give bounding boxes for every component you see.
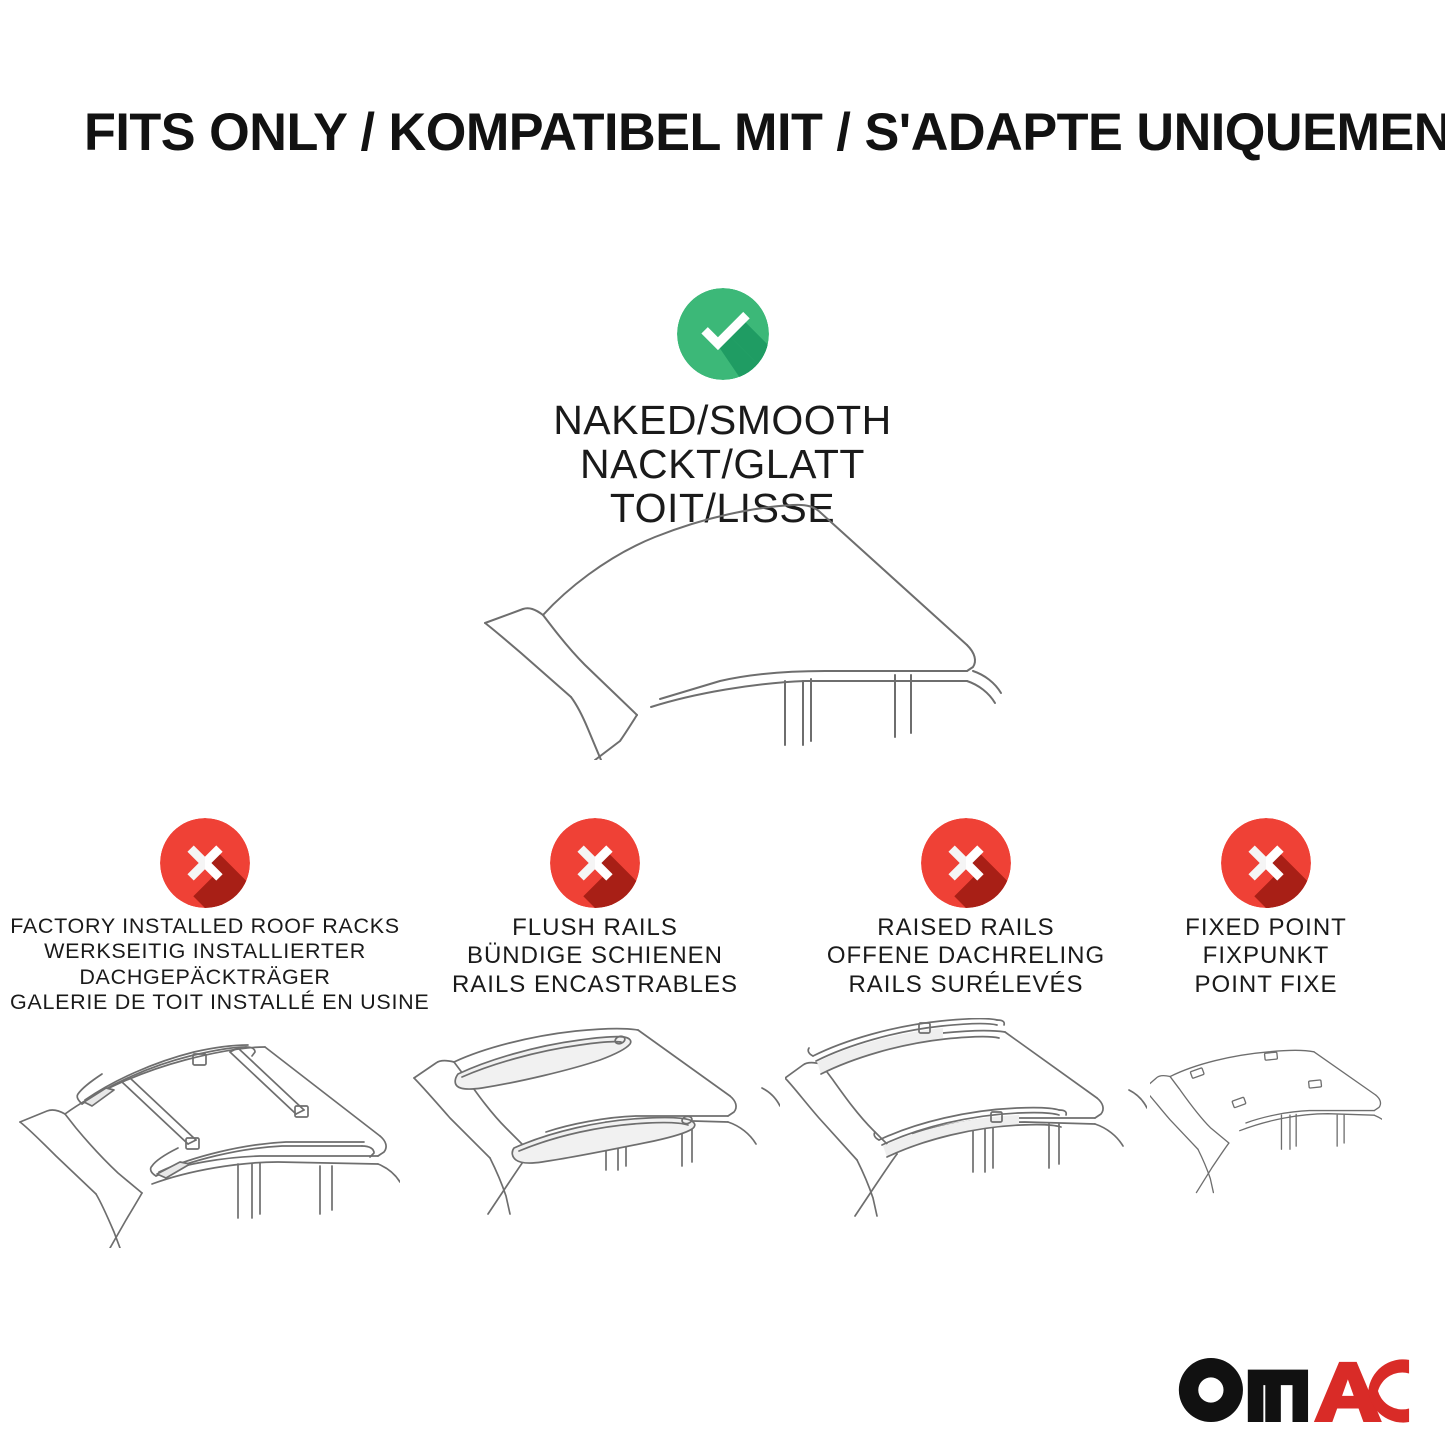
cross-circle-icon (1221, 818, 1311, 908)
car-roof-flush-rails-illustration (410, 1018, 780, 1248)
label-line-3: RAILS SURÉLEVÉS (785, 971, 1147, 999)
car-roof-raised-rails-illustration (785, 1018, 1147, 1248)
label-line-3: DACHGEPÄCKTRÄGER (10, 965, 400, 990)
label-line-2: BÜNDIGE SCHIENEN (410, 942, 780, 970)
label-line-2: FIXPUNKT (1150, 942, 1382, 970)
poster-root: FITS ONLY / KOMPATIBEL MIT / S'ADAPTE UN… (0, 0, 1445, 1445)
incompatible-item-factory-rack: FACTORY INSTALLED ROOF RACKS WERKSEITIG … (10, 818, 400, 1015)
cross-circle-icon (921, 818, 1011, 908)
badge-wrap (785, 818, 1147, 914)
incompatible-item-flush-rails: FLUSH RAILS BÜNDIGE SCHIENEN RAILS ENCAS… (410, 818, 780, 999)
incompatible-section: FACTORY INSTALLED ROOF RACKS WERKSEITIG … (0, 818, 1445, 1248)
omac-logo (1175, 1356, 1410, 1424)
incompatible-caption: FIXED POINT FIXPUNKT POINT FIXE (1150, 914, 1382, 999)
check-circle-icon (677, 288, 769, 380)
car-roof-fixed-point-illustration (1150, 1018, 1382, 1248)
label-line-1: FLUSH RAILS (410, 914, 780, 942)
badge-wrap (10, 818, 400, 914)
page-title: FITS ONLY / KOMPATIBEL MIT / S'ADAPTE UN… (84, 106, 1355, 159)
label-line-3: POINT FIXE (1150, 971, 1382, 999)
label-line-3: RAILS ENCASTRABLES (410, 971, 780, 999)
cross-circle-icon (550, 818, 640, 908)
incompatible-caption: FLUSH RAILS BÜNDIGE SCHIENEN RAILS ENCAS… (410, 914, 780, 999)
label-line-1: RAISED RAILS (785, 914, 1147, 942)
label-line-1: FACTORY INSTALLED ROOF RACKS (10, 914, 400, 939)
compatible-label-de: NACKT/GLATT (0, 443, 1445, 487)
incompatible-caption: FACTORY INSTALLED ROOF RACKS WERKSEITIG … (10, 914, 400, 1015)
incompatible-caption: RAISED RAILS OFFENE DACHRELING RAILS SUR… (785, 914, 1147, 999)
car-roof-smooth-illustration (455, 495, 1015, 760)
car-roof-factory-rack-illustration (10, 1018, 400, 1248)
incompatible-item-raised-rails: RAISED RAILS OFFENE DACHRELING RAILS SUR… (785, 818, 1147, 999)
cross-circle-icon (160, 818, 250, 908)
label-line-1: FIXED POINT (1150, 914, 1382, 942)
badge-wrap (1150, 818, 1382, 914)
incompatible-item-fixed-point: FIXED POINT FIXPUNKT POINT FIXE (1150, 818, 1382, 999)
badge-wrap (410, 818, 780, 914)
label-line-4: GALERIE DE TOIT INSTALLÉ EN USINE (10, 990, 400, 1015)
label-line-2: OFFENE DACHRELING (785, 942, 1147, 970)
label-line-2: WERKSEITIG INSTALLIERTER (10, 939, 400, 964)
compatible-label-en: NAKED/SMOOTH (0, 399, 1445, 443)
